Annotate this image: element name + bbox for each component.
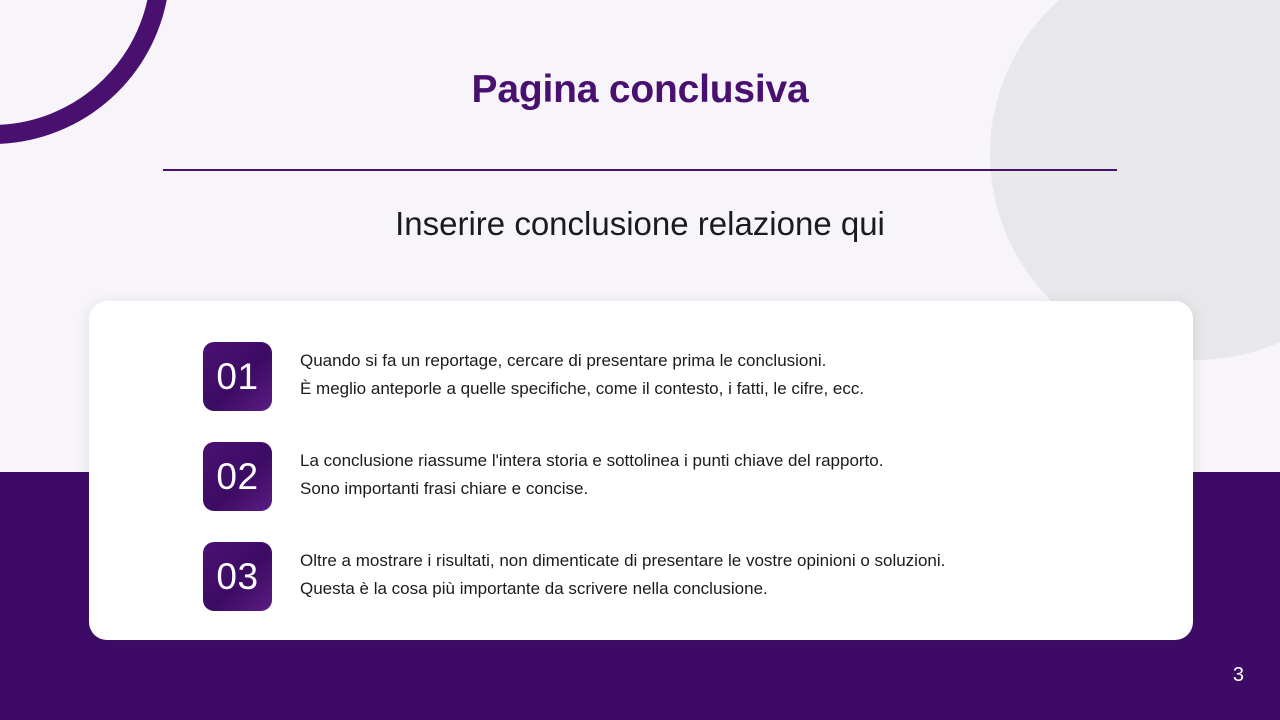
item-text-line: Questa è la cosa più importante da scriv…	[300, 575, 945, 603]
list-item: 01 Quando si fa un reportage, cercare di…	[203, 342, 1169, 411]
page-subtitle: Inserire conclusione relazione qui	[0, 205, 1280, 243]
item-number-badge: 01	[203, 342, 272, 411]
item-text-line: È meglio anteporle a quelle specifiche, …	[300, 375, 864, 403]
item-text-line: La conclusione riassume l'intera storia …	[300, 447, 883, 475]
title-divider	[163, 169, 1117, 171]
item-text-line: Sono importanti frasi chiare e concise.	[300, 475, 883, 503]
content-card: 01 Quando si fa un reportage, cercare di…	[89, 301, 1193, 640]
item-text: Quando si fa un reportage, cercare di pr…	[300, 342, 864, 403]
list-item: 03 Oltre a mostrare i risultati, non dim…	[203, 542, 1169, 611]
page-title: Pagina conclusiva	[0, 68, 1280, 112]
item-number-badge: 02	[203, 442, 272, 511]
item-text-line: Quando si fa un reportage, cercare di pr…	[300, 347, 864, 375]
list-item: 02 La conclusione riassume l'intera stor…	[203, 442, 1169, 511]
item-text: La conclusione riassume l'intera storia …	[300, 442, 883, 503]
item-number-badge: 03	[203, 542, 272, 611]
page-number: 3	[1233, 664, 1244, 687]
slide: Pagina conclusiva Inserire conclusione r…	[0, 0, 1280, 720]
numbered-list: 01 Quando si fa un reportage, cercare di…	[203, 342, 1169, 611]
item-text: Oltre a mostrare i risultati, non diment…	[300, 542, 945, 603]
item-text-line: Oltre a mostrare i risultati, non diment…	[300, 547, 945, 575]
